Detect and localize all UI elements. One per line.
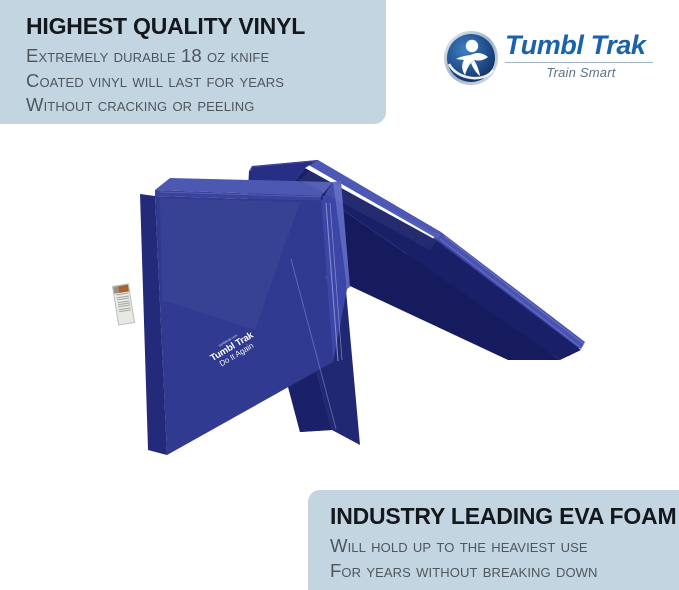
- callout-bottom-heading: INDUSTRY LEADING EVA FOAM: [330, 504, 679, 529]
- tumbl-trak-logo: Tumbl Trak Train Smart: [443, 28, 657, 88]
- callout-top-heading: HIGHEST QUALITY VINYL: [26, 14, 386, 39]
- callout-bottom-line: Will hold up to the heaviest use: [330, 534, 679, 558]
- tumbl-trak-circle-emblem: [443, 30, 499, 86]
- logo-text-block: Tumbl Trak Train Smart: [505, 32, 657, 80]
- logo-tagline: Train Smart: [505, 65, 657, 80]
- callout-industry-leading-eva-foam: INDUSTRY LEADING EVA FOAM Will hold up t…: [308, 490, 679, 590]
- logo-wordmark: Tumbl Trak: [505, 32, 657, 59]
- callout-top-line: Extremely durable 18 oz knife: [26, 44, 386, 68]
- callout-bottom-line: for years without breaking down: [330, 559, 679, 583]
- warning-label-text-line: [119, 310, 131, 313]
- callout-top-body: Extremely durable 18 oz knife coated vin…: [26, 44, 386, 117]
- logo-divider-rule: [505, 62, 653, 63]
- callout-highest-quality-vinyl: HIGHEST QUALITY VINYL Extremely durable …: [0, 0, 386, 124]
- callout-top-line: coated vinyl will last for years: [26, 69, 386, 93]
- callout-top-line: without cracking or peeling: [26, 93, 386, 117]
- product-marketing-image: tumbltrak.com Tumbl Trak Do It Again HIG…: [0, 0, 679, 590]
- callout-bottom-body: Will hold up to the heaviest use for yea…: [330, 534, 679, 583]
